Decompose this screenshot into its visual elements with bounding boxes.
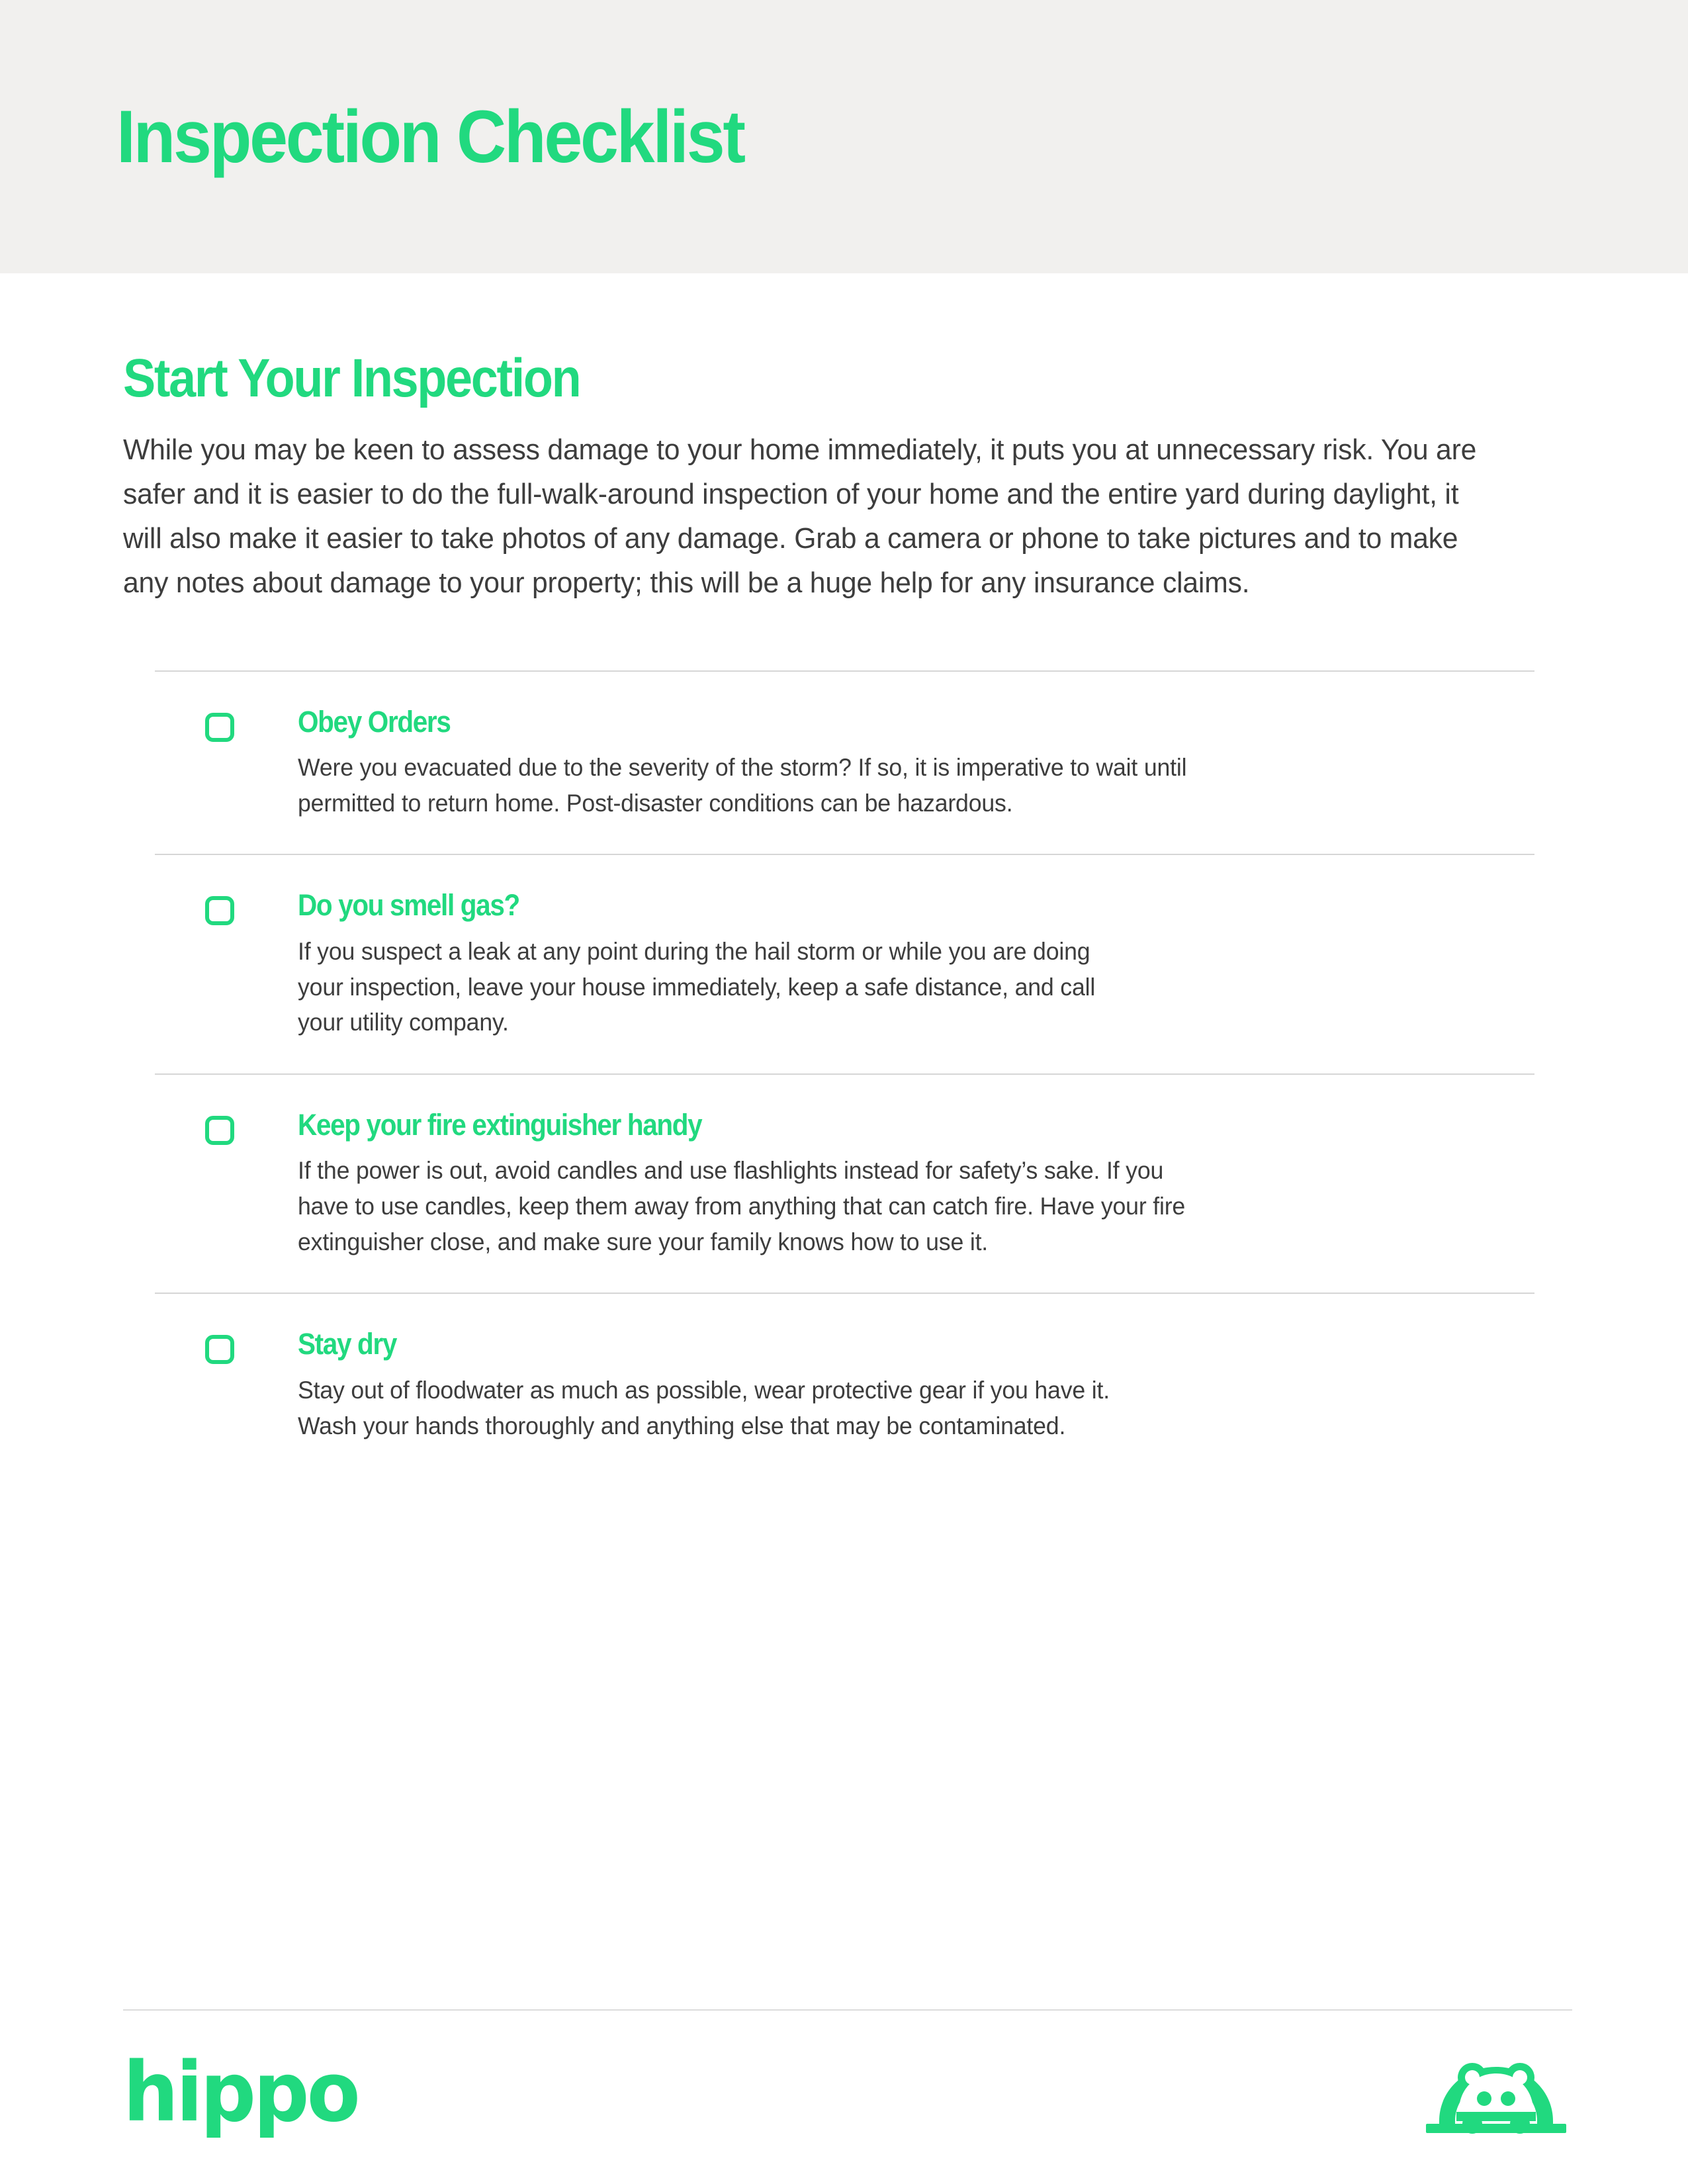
section-heading: Start Your Inspection <box>123 351 1425 406</box>
hippo-logo-wordmark[interactable]: hippo <box>123 2052 358 2143</box>
footer-row: hippo <box>123 2011 1576 2184</box>
hippo-mascot-icon <box>1423 2058 1569 2137</box>
checklist-item-body: Keep your fire extinguisher handy If the… <box>298 1109 1564 1260</box>
page-footer: hippo <box>123 2009 1576 2184</box>
checklist-item-description: Were you evacuated due to the severity o… <box>298 750 1520 821</box>
checkbox-icon[interactable] <box>205 1335 234 1364</box>
checklist-item[interactable]: Obey Orders Were you evacuated due to th… <box>155 672 1564 854</box>
checklist-item[interactable]: Do you smell gas? If you suspect a leak … <box>155 855 1564 1073</box>
main-content: Start Your Inspection While you may be k… <box>0 273 1688 1477</box>
checklist-item-title: Keep your fire extinguisher handy <box>298 1109 1438 1142</box>
checkbox-icon[interactable] <box>205 713 234 742</box>
checklist-item[interactable]: Keep your fire extinguisher handy If the… <box>155 1075 1564 1293</box>
checklist-item-description: If you suspect a leak at any point durin… <box>298 934 1520 1040</box>
checklist-item[interactable]: Stay dry Stay out of floodwater as much … <box>155 1294 1564 1477</box>
checklist-item-title: Stay dry <box>298 1328 1438 1361</box>
checklist-item-body: Stay dry Stay out of floodwater as much … <box>298 1328 1564 1443</box>
checkbox-icon[interactable] <box>205 896 234 925</box>
page-header: Inspection Checklist <box>0 0 1688 273</box>
checklist-item-description: Stay out of floodwater as much as possib… <box>298 1373 1520 1443</box>
checklist-item-title: Obey Orders <box>298 706 1438 739</box>
intro-paragraph: While you may be keen to assess damage t… <box>123 428 1490 606</box>
checklist-item-description: If the power is out, avoid candles and u… <box>298 1153 1520 1259</box>
checklist-item-title: Do you smell gas? <box>298 889 1438 922</box>
checklist-item-body: Do you smell gas? If you suspect a leak … <box>298 889 1564 1040</box>
checklist: Obey Orders Were you evacuated due to th… <box>155 670 1564 1477</box>
page-title: Inspection Checklist <box>116 100 744 174</box>
checkbox-icon[interactable] <box>205 1116 234 1145</box>
checklist-item-body: Obey Orders Were you evacuated due to th… <box>298 706 1564 821</box>
